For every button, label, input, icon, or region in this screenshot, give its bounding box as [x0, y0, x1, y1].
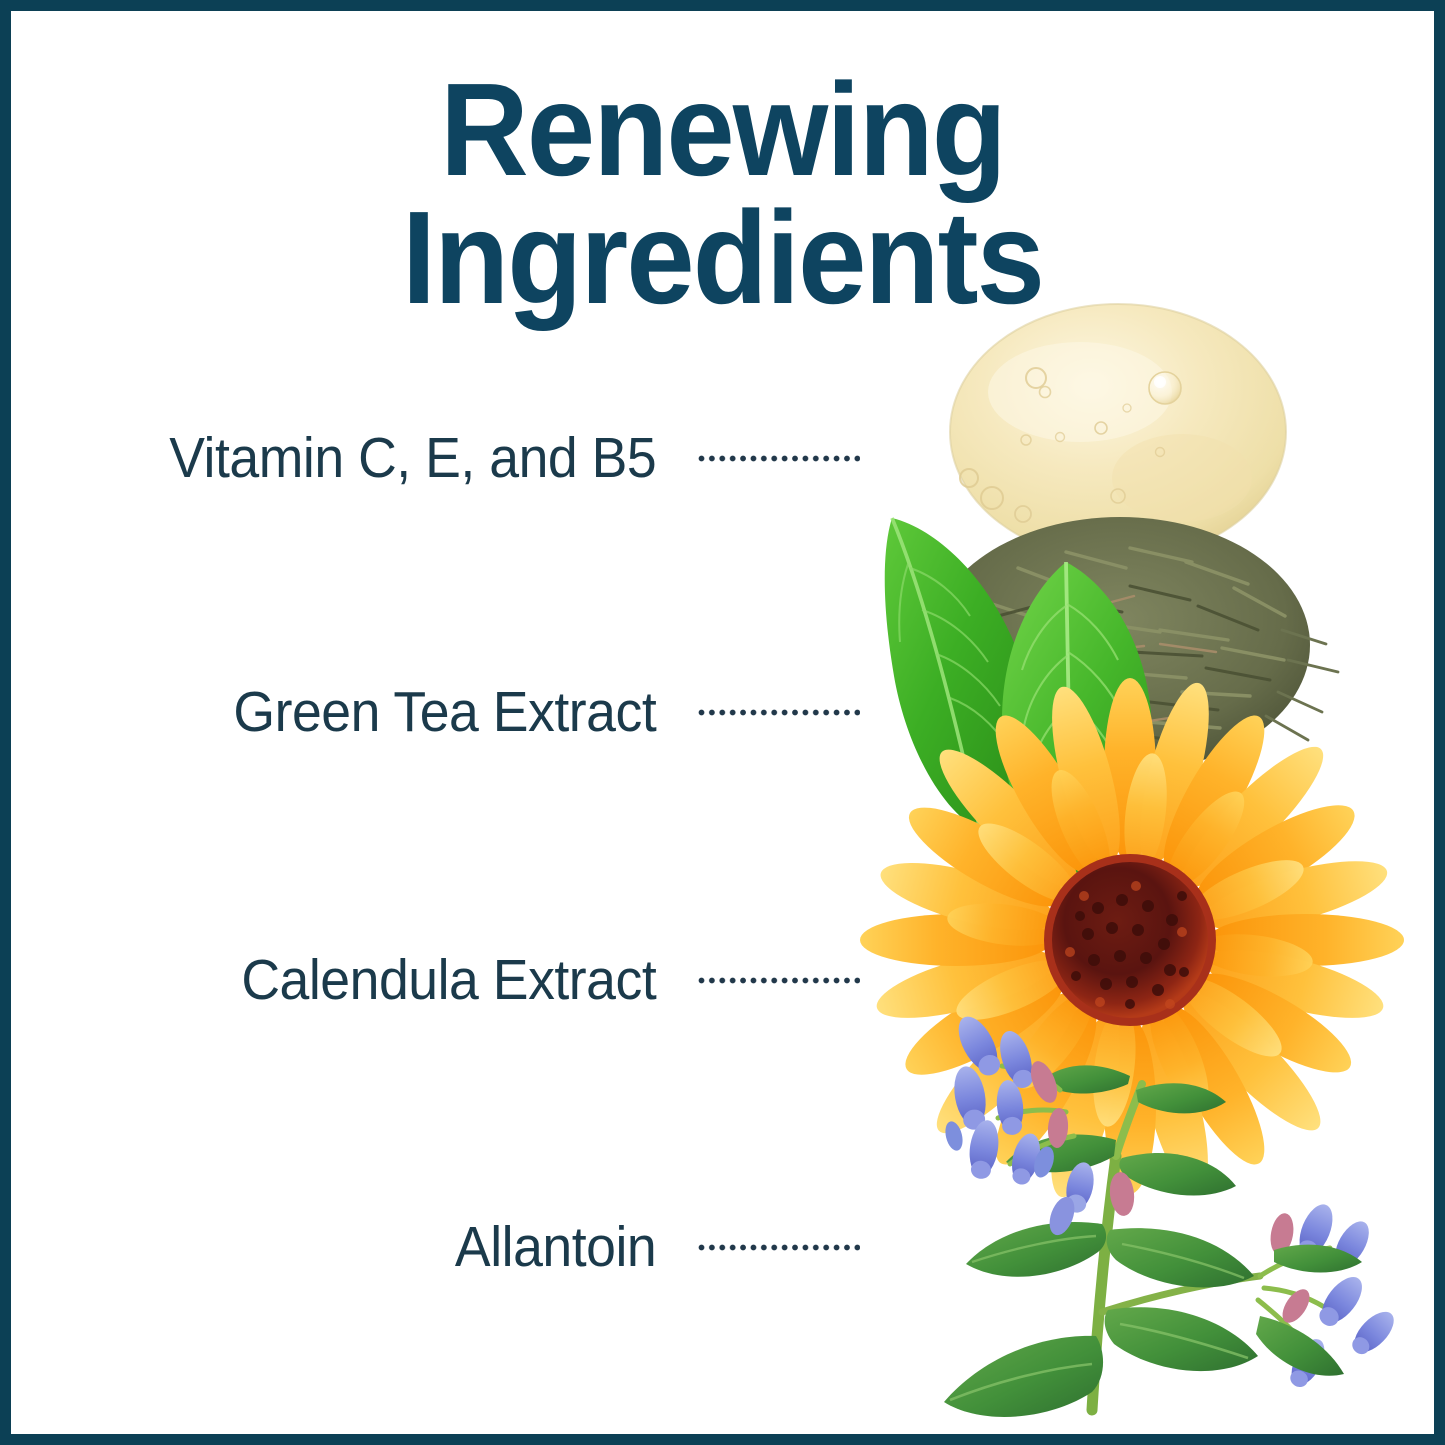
page-title: Renewing Ingredients — [0, 66, 1445, 322]
leader-dots-allantoin — [698, 1244, 860, 1251]
infographic-canvas: Renewing Ingredients Vitamin C, E, and B… — [0, 0, 1445, 1445]
ingredient-row-allantoin: Allantoin — [70, 1212, 860, 1282]
ingredient-artwork-column — [830, 300, 1430, 1420]
ingredient-label-vitamins: Vitamin C, E, and B5 — [105, 430, 660, 487]
leader-dots-calendula — [698, 977, 860, 984]
ingredient-row-calendula: Calendula Extract — [70, 945, 860, 1015]
comfrey-flower-cluster-right — [1256, 1200, 1401, 1392]
leader-dots-green-tea — [698, 709, 860, 716]
calendula-flower-illustration — [860, 677, 1404, 1204]
ingredient-label-calendula: Calendula Extract — [105, 952, 660, 1009]
title-line-2: Ingredients — [51, 194, 1395, 322]
calendula-center-disc — [1044, 854, 1216, 1026]
ingredient-row-green-tea: Green Tea Extract — [70, 677, 860, 747]
ingredient-row-vitamins: Vitamin C, E, and B5 — [70, 423, 860, 493]
ingredient-label-allantoin: Allantoin — [105, 1219, 660, 1276]
leader-dots-vitamins — [698, 455, 860, 462]
ingredient-label-green-tea: Green Tea Extract — [105, 684, 660, 741]
title-line-1: Renewing — [51, 66, 1395, 194]
